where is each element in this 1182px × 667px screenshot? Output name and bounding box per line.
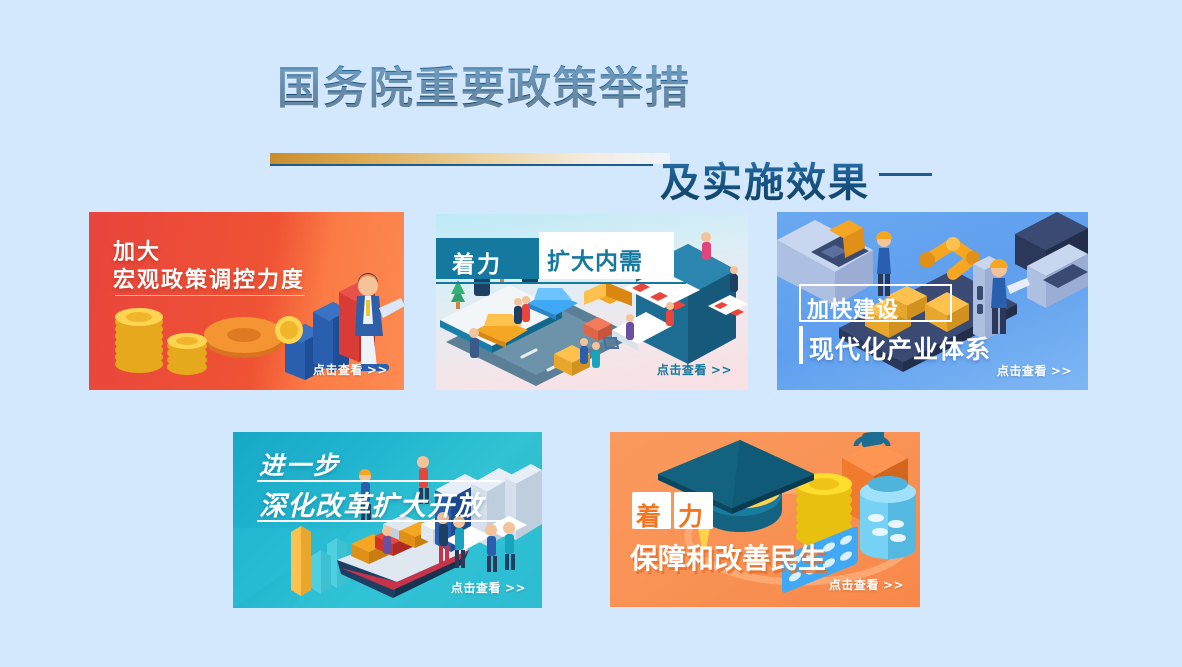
card-shenhua-gaige[interactable]: 进一步 深化改革扩大开放 点击查看>> <box>233 432 542 608</box>
cta-label: 点击查看 <box>313 363 363 377</box>
page-title-line1: 国务院重要政策举措 <box>277 52 691 116</box>
title-gold-underline <box>270 153 670 164</box>
cta-arrows-icon: >> <box>367 363 388 377</box>
page-title-line2: 及实施效果 <box>660 150 870 208</box>
cta-link[interactable]: 点击查看>> <box>829 576 904 593</box>
card-title-rule-bottom <box>257 520 501 522</box>
card-baozhang-minsheng[interactable]: 着 保障和改善民生 点击查看>> 力 <box>610 432 920 607</box>
cta-link[interactable]: 点击查看>> <box>451 579 526 596</box>
card-title-block-secondary: 扩大内需 <box>539 232 674 279</box>
cta-label: 点击查看 <box>451 581 501 595</box>
card-kuoda-neixu[interactable]: 着力 扩大内需 点击查看>> <box>436 214 748 390</box>
policy-overview-page: 国务院重要政策举措 及实施效果 <box>0 0 1182 667</box>
card-title-line1: 加快建设 <box>807 292 899 324</box>
title-trailing-dash <box>879 173 932 176</box>
card-title-line2: 保障和改善民生 <box>630 537 826 577</box>
card-title-line1: 进一步 <box>259 446 340 482</box>
card-title-char-2: 力 <box>678 497 703 533</box>
cta-arrows-icon: >> <box>1051 364 1072 378</box>
card-title-accent-bar <box>799 326 803 364</box>
card-title-underline <box>115 295 305 296</box>
card-xiandaihua-chanye[interactable]: 加快建设 现代化产业体系 点击查看>> <box>777 212 1088 390</box>
card-title-block-1: 着 <box>632 492 671 529</box>
card-title-underline <box>436 282 686 284</box>
cta-label: 点击查看 <box>657 363 707 377</box>
title-blue-rule <box>270 164 653 166</box>
card-title-block-primary: 着力 <box>436 238 539 279</box>
card-title-char-1: 着 <box>636 497 661 533</box>
cta-label: 点击查看 <box>829 578 879 592</box>
cta-link[interactable]: 点击查看>> <box>657 361 732 378</box>
card-title-block-2: 力 <box>674 492 713 529</box>
cta-arrows-icon: >> <box>505 581 526 595</box>
cta-link[interactable]: 点击查看>> <box>997 362 1072 379</box>
card-title-box: 加快建设 <box>799 284 952 322</box>
card-title-line2: 宏观政策调控力度 <box>113 262 305 294</box>
card-title-line2: 扩大内需 <box>547 242 643 276</box>
card-title-line2: 现代化产业体系 <box>809 330 991 366</box>
cta-link[interactable]: 点击查看>> <box>313 361 388 378</box>
cta-arrows-icon: >> <box>883 578 904 592</box>
cta-label: 点击查看 <box>997 364 1047 378</box>
card-title-rule-top <box>257 480 501 482</box>
page-header: 国务院重要政策举措 及实施效果 <box>0 52 1182 162</box>
card-title-line1: 着力 <box>452 245 502 279</box>
card-jiada-hongguan[interactable]: 加大 宏观政策调控力度 点击查看>> <box>89 212 404 390</box>
cta-arrows-icon: >> <box>711 363 732 377</box>
card-title-line2: 深化改革扩大开放 <box>259 484 483 523</box>
